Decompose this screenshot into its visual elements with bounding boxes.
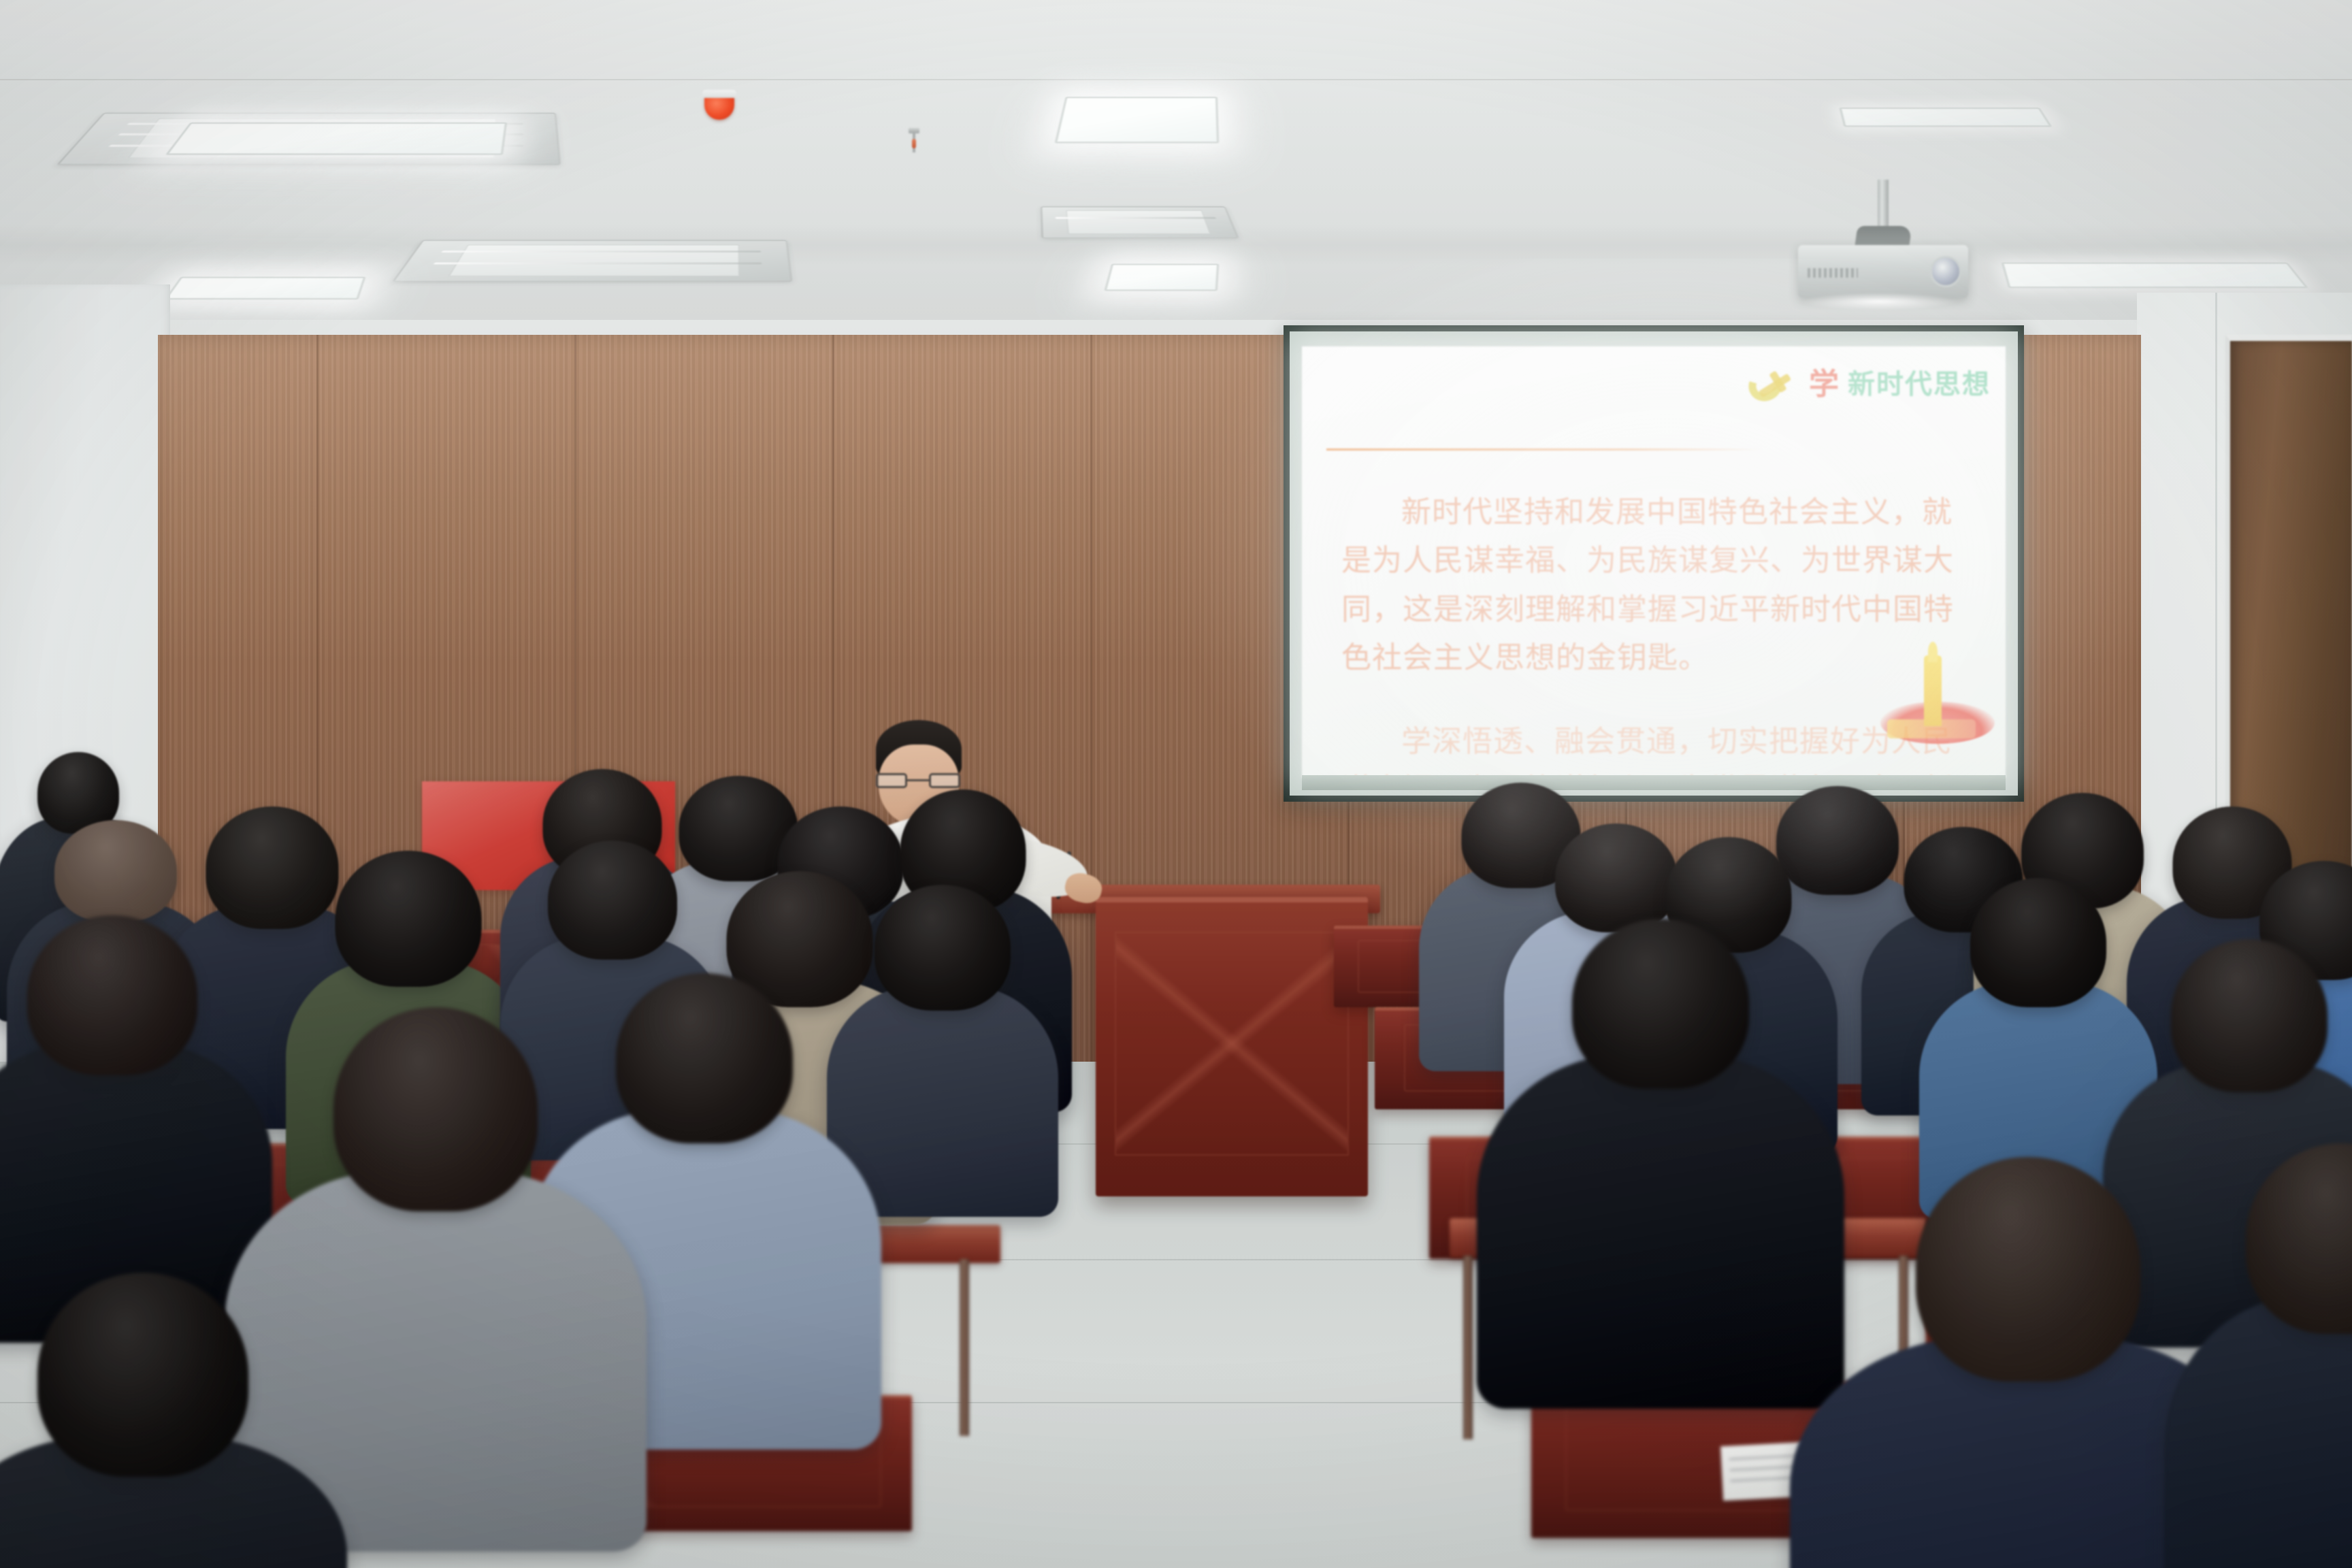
light-panel-6 xyxy=(1840,108,2053,127)
attendee-head xyxy=(875,885,1011,1011)
eyeglasses-icon xyxy=(876,773,960,788)
attendee-head xyxy=(1970,878,2106,1007)
attendee-head xyxy=(2171,939,2327,1092)
ceiling-projector xyxy=(1798,180,1968,316)
light-panel-3 xyxy=(165,277,366,299)
hvac-vent-right xyxy=(1041,206,1239,238)
light-panel-2 xyxy=(1055,97,1219,143)
attendee-head xyxy=(27,915,197,1075)
logo-xue-character: 学 xyxy=(1809,370,1839,399)
party-emblem-icon xyxy=(1747,365,1800,404)
slide-divider-rule xyxy=(1326,448,1762,451)
sprinkler-head-icon xyxy=(909,128,919,154)
screen-inner-border: 学 新时代思想 新时代坚持和发展中国特色社会主义，就是为人民谋幸福、为民族谋复兴… xyxy=(1290,331,2018,796)
light-panel-5 xyxy=(2002,263,2308,288)
attendee-head xyxy=(548,840,677,960)
attendee-left-15 xyxy=(0,1273,347,1568)
ceiling-soffit xyxy=(0,0,2352,80)
logo-brand-text: 新时代思想 xyxy=(1848,371,1991,398)
attendee-torso xyxy=(2164,1296,2352,1568)
presentation-slide: 学 新时代思想 新时代坚持和发展中国特色社会主义，就是为人民谋幸福、为民族谋复兴… xyxy=(1302,346,2006,778)
light-panel-4 xyxy=(1104,264,1219,291)
attendee-torso xyxy=(1477,1055,1844,1409)
light-panel-1 xyxy=(165,122,507,155)
attendee-right-13 xyxy=(2164,1143,2352,1568)
slide-logo: 学 新时代思想 xyxy=(1747,365,1991,404)
attendee-right-10 xyxy=(1477,919,1844,1443)
attendee-head xyxy=(333,1007,538,1211)
desk-leg xyxy=(960,1259,969,1436)
attendee-head xyxy=(1572,919,1749,1089)
attendee-head xyxy=(1916,1157,2140,1382)
attendee-head xyxy=(37,1273,248,1477)
smoke-detector-icon xyxy=(701,90,738,121)
monument-graphic-icon xyxy=(1868,632,2004,755)
lecture-hall-photograph: 学 新时代思想 新时代坚持和发展中国特色社会主义，就是为人民谋幸福、为民族谋复兴… xyxy=(0,0,2352,1568)
attendee-head xyxy=(54,820,177,922)
slide-header: 学 新时代思想 xyxy=(1302,346,2006,439)
attendee-head xyxy=(336,851,482,987)
hvac-vent-center xyxy=(393,240,792,282)
lectern xyxy=(1096,897,1368,1196)
projection-screen[interactable]: 学 新时代思想 新时代坚持和发展中国特色社会主义，就是为人民谋幸福、为民族谋复兴… xyxy=(1284,325,2024,802)
desk-leg xyxy=(1463,1256,1473,1439)
